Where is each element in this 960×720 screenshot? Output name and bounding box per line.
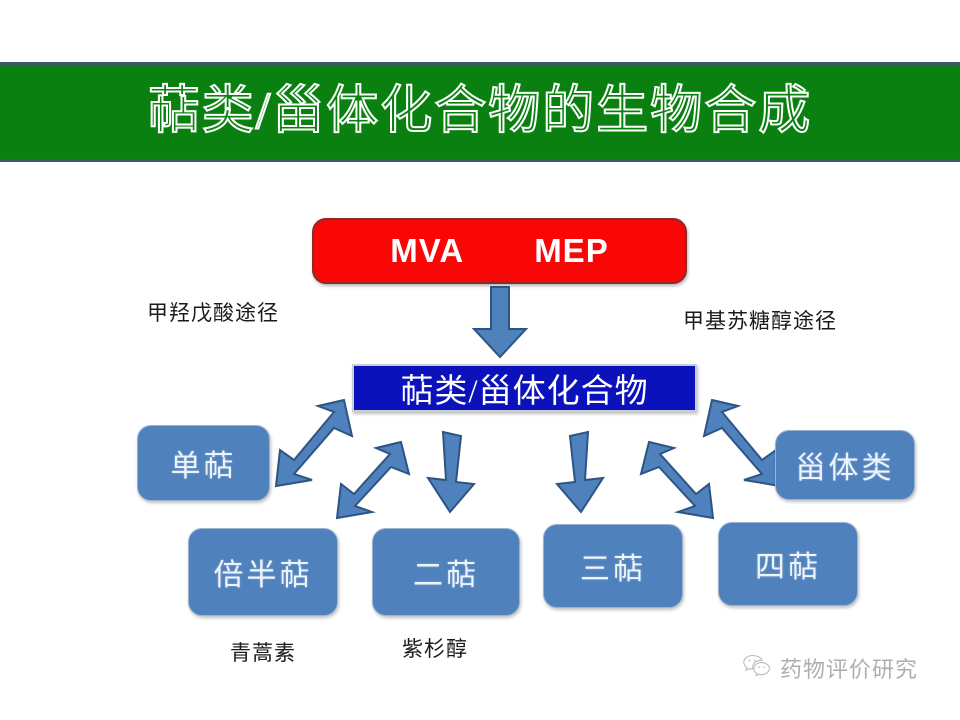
node-label: 倍半萜 <box>214 550 313 594</box>
example-label-artemisinin: 青蒿素 <box>230 637 296 667</box>
node-steroid: 甾体类 <box>775 430 915 500</box>
arrow-down-main <box>472 287 528 359</box>
node-triterpene: 三萜 <box>543 524 683 608</box>
central-product-label: 萜类/甾体化合物 <box>400 364 648 412</box>
precursor-box: MVA MEP <box>312 218 687 284</box>
arrow-down-to-diterpene <box>426 432 480 514</box>
precursor-label-mep: MEP <box>534 232 609 270</box>
node-label: 单萜 <box>171 441 237 485</box>
title-banner: 萜类/甾体化合物的生物合成 <box>0 62 960 162</box>
node-label: 四萜 <box>755 542 821 586</box>
node-label: 三萜 <box>580 544 646 588</box>
node-label: 二萜 <box>413 550 479 594</box>
node-monoterpene: 单萜 <box>137 425 270 501</box>
arrow-down-to-triterpene <box>551 432 605 514</box>
wechat-icon <box>742 653 772 684</box>
central-product-box: 萜类/甾体化合物 <box>352 364 697 412</box>
page-title: 萜类/甾体化合物的生物合成 <box>148 86 812 138</box>
pathway-caption-right: 甲基苏糖醇途径 <box>683 305 837 335</box>
node-sesquiterpene: 倍半萜 <box>188 528 338 616</box>
pathway-caption-left: 甲羟戊酸途径 <box>147 297 279 327</box>
example-label-paclitaxel: 紫杉醇 <box>402 633 468 663</box>
precursor-label-mva: MVA <box>390 232 464 270</box>
arrow-bent-to-sesquiterpene <box>331 440 411 520</box>
node-diterpene: 二萜 <box>372 528 520 616</box>
watermark: 药物评价研究 <box>742 652 918 684</box>
watermark-text: 药物评价研究 <box>780 652 918 684</box>
node-tetraterpene: 四萜 <box>718 522 858 606</box>
node-label: 甾体类 <box>796 443 895 487</box>
